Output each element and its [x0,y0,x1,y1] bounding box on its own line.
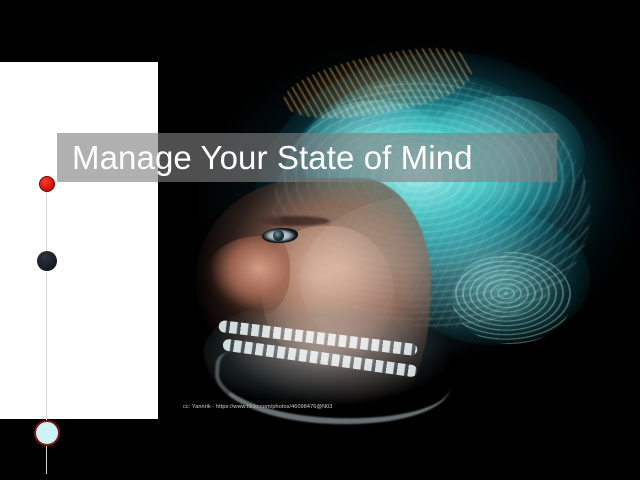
photo-credit: cc: Yannrik - https://www.flickr.com/pho… [183,404,332,410]
eyebrow [256,216,330,226]
letterbox-bottom [0,466,640,480]
timeline-node-dark [37,251,57,271]
letterbox-top [0,0,640,14]
timeline-node-red [39,176,55,192]
timeline-node-ring [34,420,60,446]
eye-pupil [273,230,284,241]
white-side-panel [0,62,158,419]
slide-canvas: Manage Your State of Mind cc: Yannrik - … [0,0,640,480]
slide-title: Manage Your State of Mind [72,135,562,181]
